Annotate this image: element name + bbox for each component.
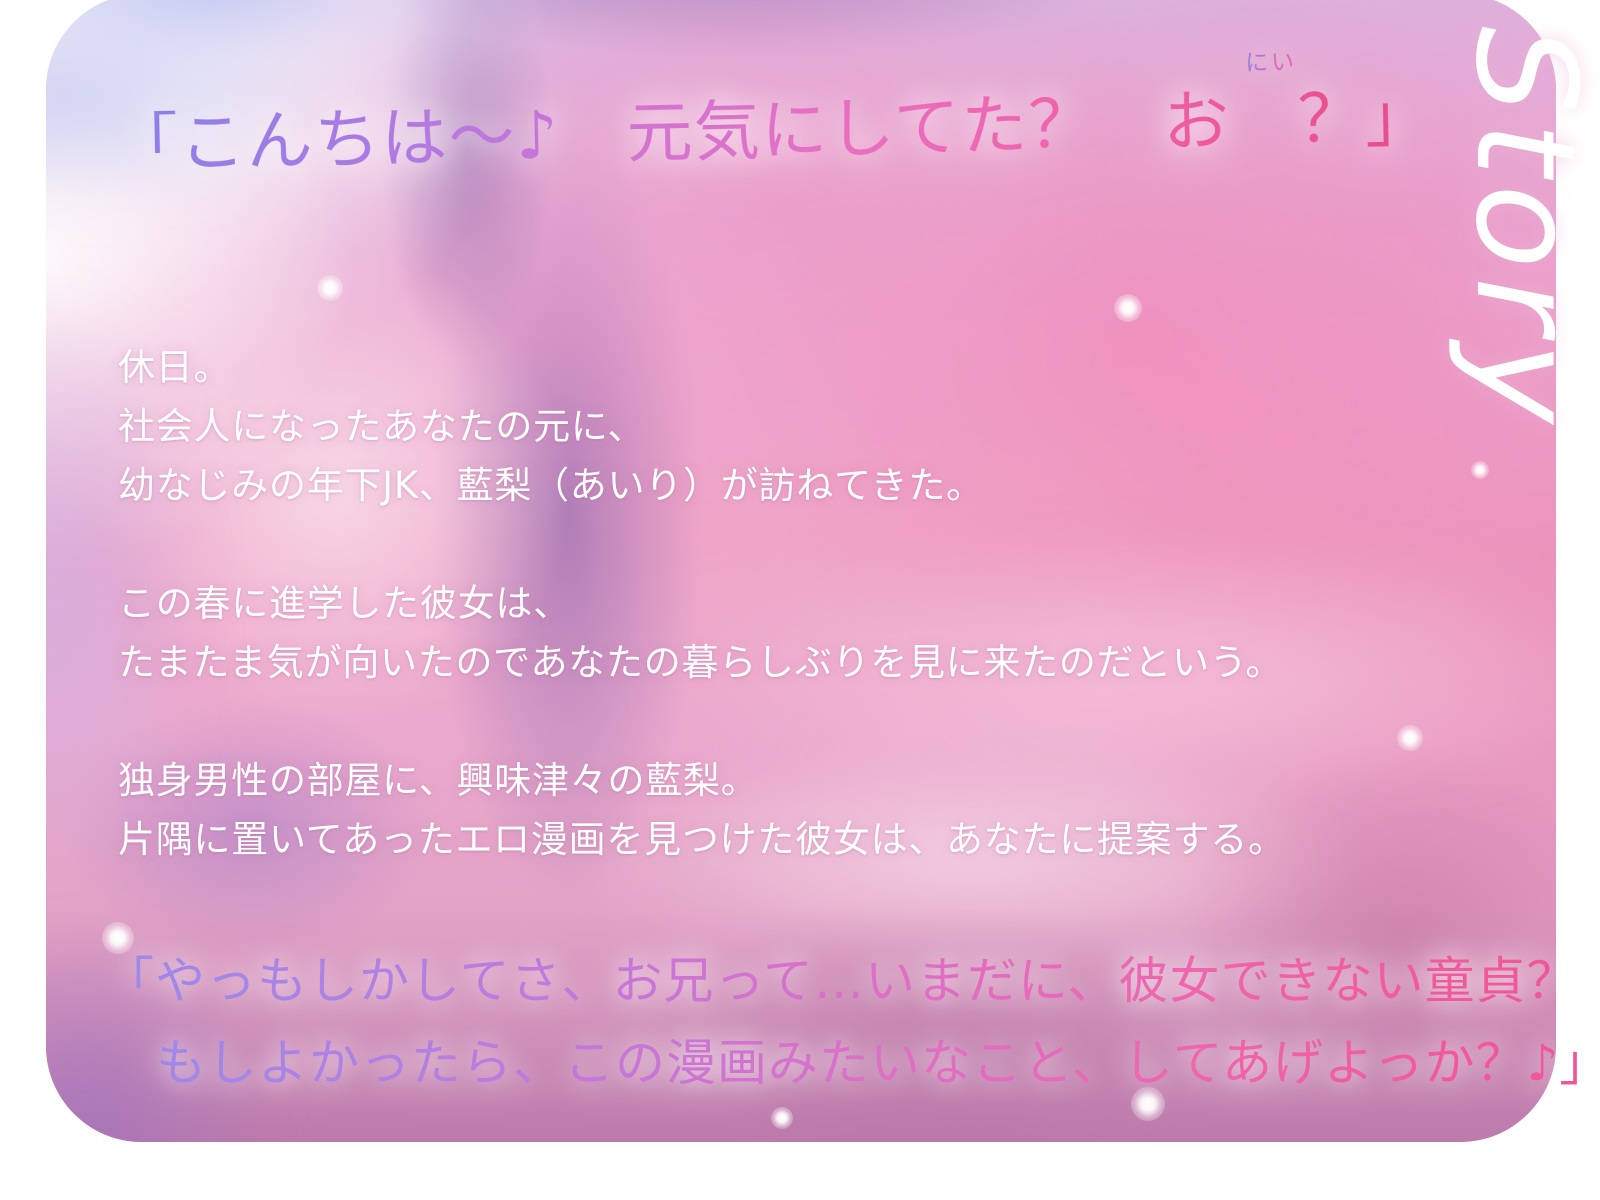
- closing-line: 「やっもしかしてさ、お兄って…いまだに、彼女できない童貞？: [104, 940, 1600, 1022]
- story-line: たまたま気が向いたのであなたの暮らしぶりを見に来たのだという。: [118, 633, 1286, 692]
- story-line: 片隅に置いてあったエロ漫画を見つけた彼女は、あなたに提案する。: [118, 810, 1286, 869]
- story-line: 休日。: [118, 338, 1286, 397]
- ruby-furigana: にい: [1245, 51, 1297, 75]
- story-line: 社会人になったあなたの元に、: [118, 397, 1286, 456]
- story-label-text: Story: [1456, 26, 1594, 432]
- story-label: Story: [1416, 16, 1600, 536]
- headline-part-c: ？」: [1297, 78, 1433, 158]
- story-paragraph: 独身男性の部屋に、興味津々の藍梨。片隅に置いてあったエロ漫画を見つけた彼女は、あ…: [118, 751, 1286, 869]
- story-line: 幼なじみの年下JK、藍梨（あいり）が訪ねてきた。: [118, 456, 1286, 515]
- story-line: 独身男性の部屋に、興味津々の藍梨。: [118, 751, 1286, 810]
- ruby-group: にい兄: [1230, 87, 1299, 154]
- story-body: 休日。社会人になったあなたの元に、幼なじみの年下JK、藍梨（あいり）が訪ねてきた…: [118, 338, 1286, 869]
- headline-part-a: こんちは〜♪: [178, 95, 627, 181]
- closing-quote: 「やっもしかしてさ、お兄って…いまだに、彼女できない童貞？もしよかったら、この漫…: [104, 940, 1600, 1104]
- headline-quote: 「こんちは〜♪ 元気にしてた？ おにい兄？」: [111, 84, 1433, 178]
- paragraph-gap: [118, 692, 1286, 751]
- story-line: この春に進学した彼女は、: [118, 574, 1286, 633]
- closing-line: もしよかったら、この漫画みたいなこと、してあげよっか？♪」: [104, 1022, 1600, 1104]
- headline-part-b: 元気にしてた？ お: [626, 83, 1231, 173]
- story-paragraph: 休日。社会人になったあなたの元に、幼なじみの年下JK、藍梨（あいり）が訪ねてきた…: [118, 338, 1286, 515]
- story-card: 「こんちは〜♪ 元気にしてた？ おにい兄？」 Story 休日。社会人になったあ…: [0, 0, 1600, 1200]
- paragraph-gap: [118, 515, 1286, 574]
- headline-open-bracket: 「: [111, 105, 180, 183]
- ruby-base-kanji: 兄: [1230, 81, 1299, 159]
- card-content: 「こんちは〜♪ 元気にしてた？ おにい兄？」 Story 休日。社会人になったあ…: [0, 0, 1600, 1200]
- story-paragraph: この春に進学した彼女は、たまたま気が向いたのであなたの暮らしぶりを見に来たのだと…: [118, 574, 1286, 692]
